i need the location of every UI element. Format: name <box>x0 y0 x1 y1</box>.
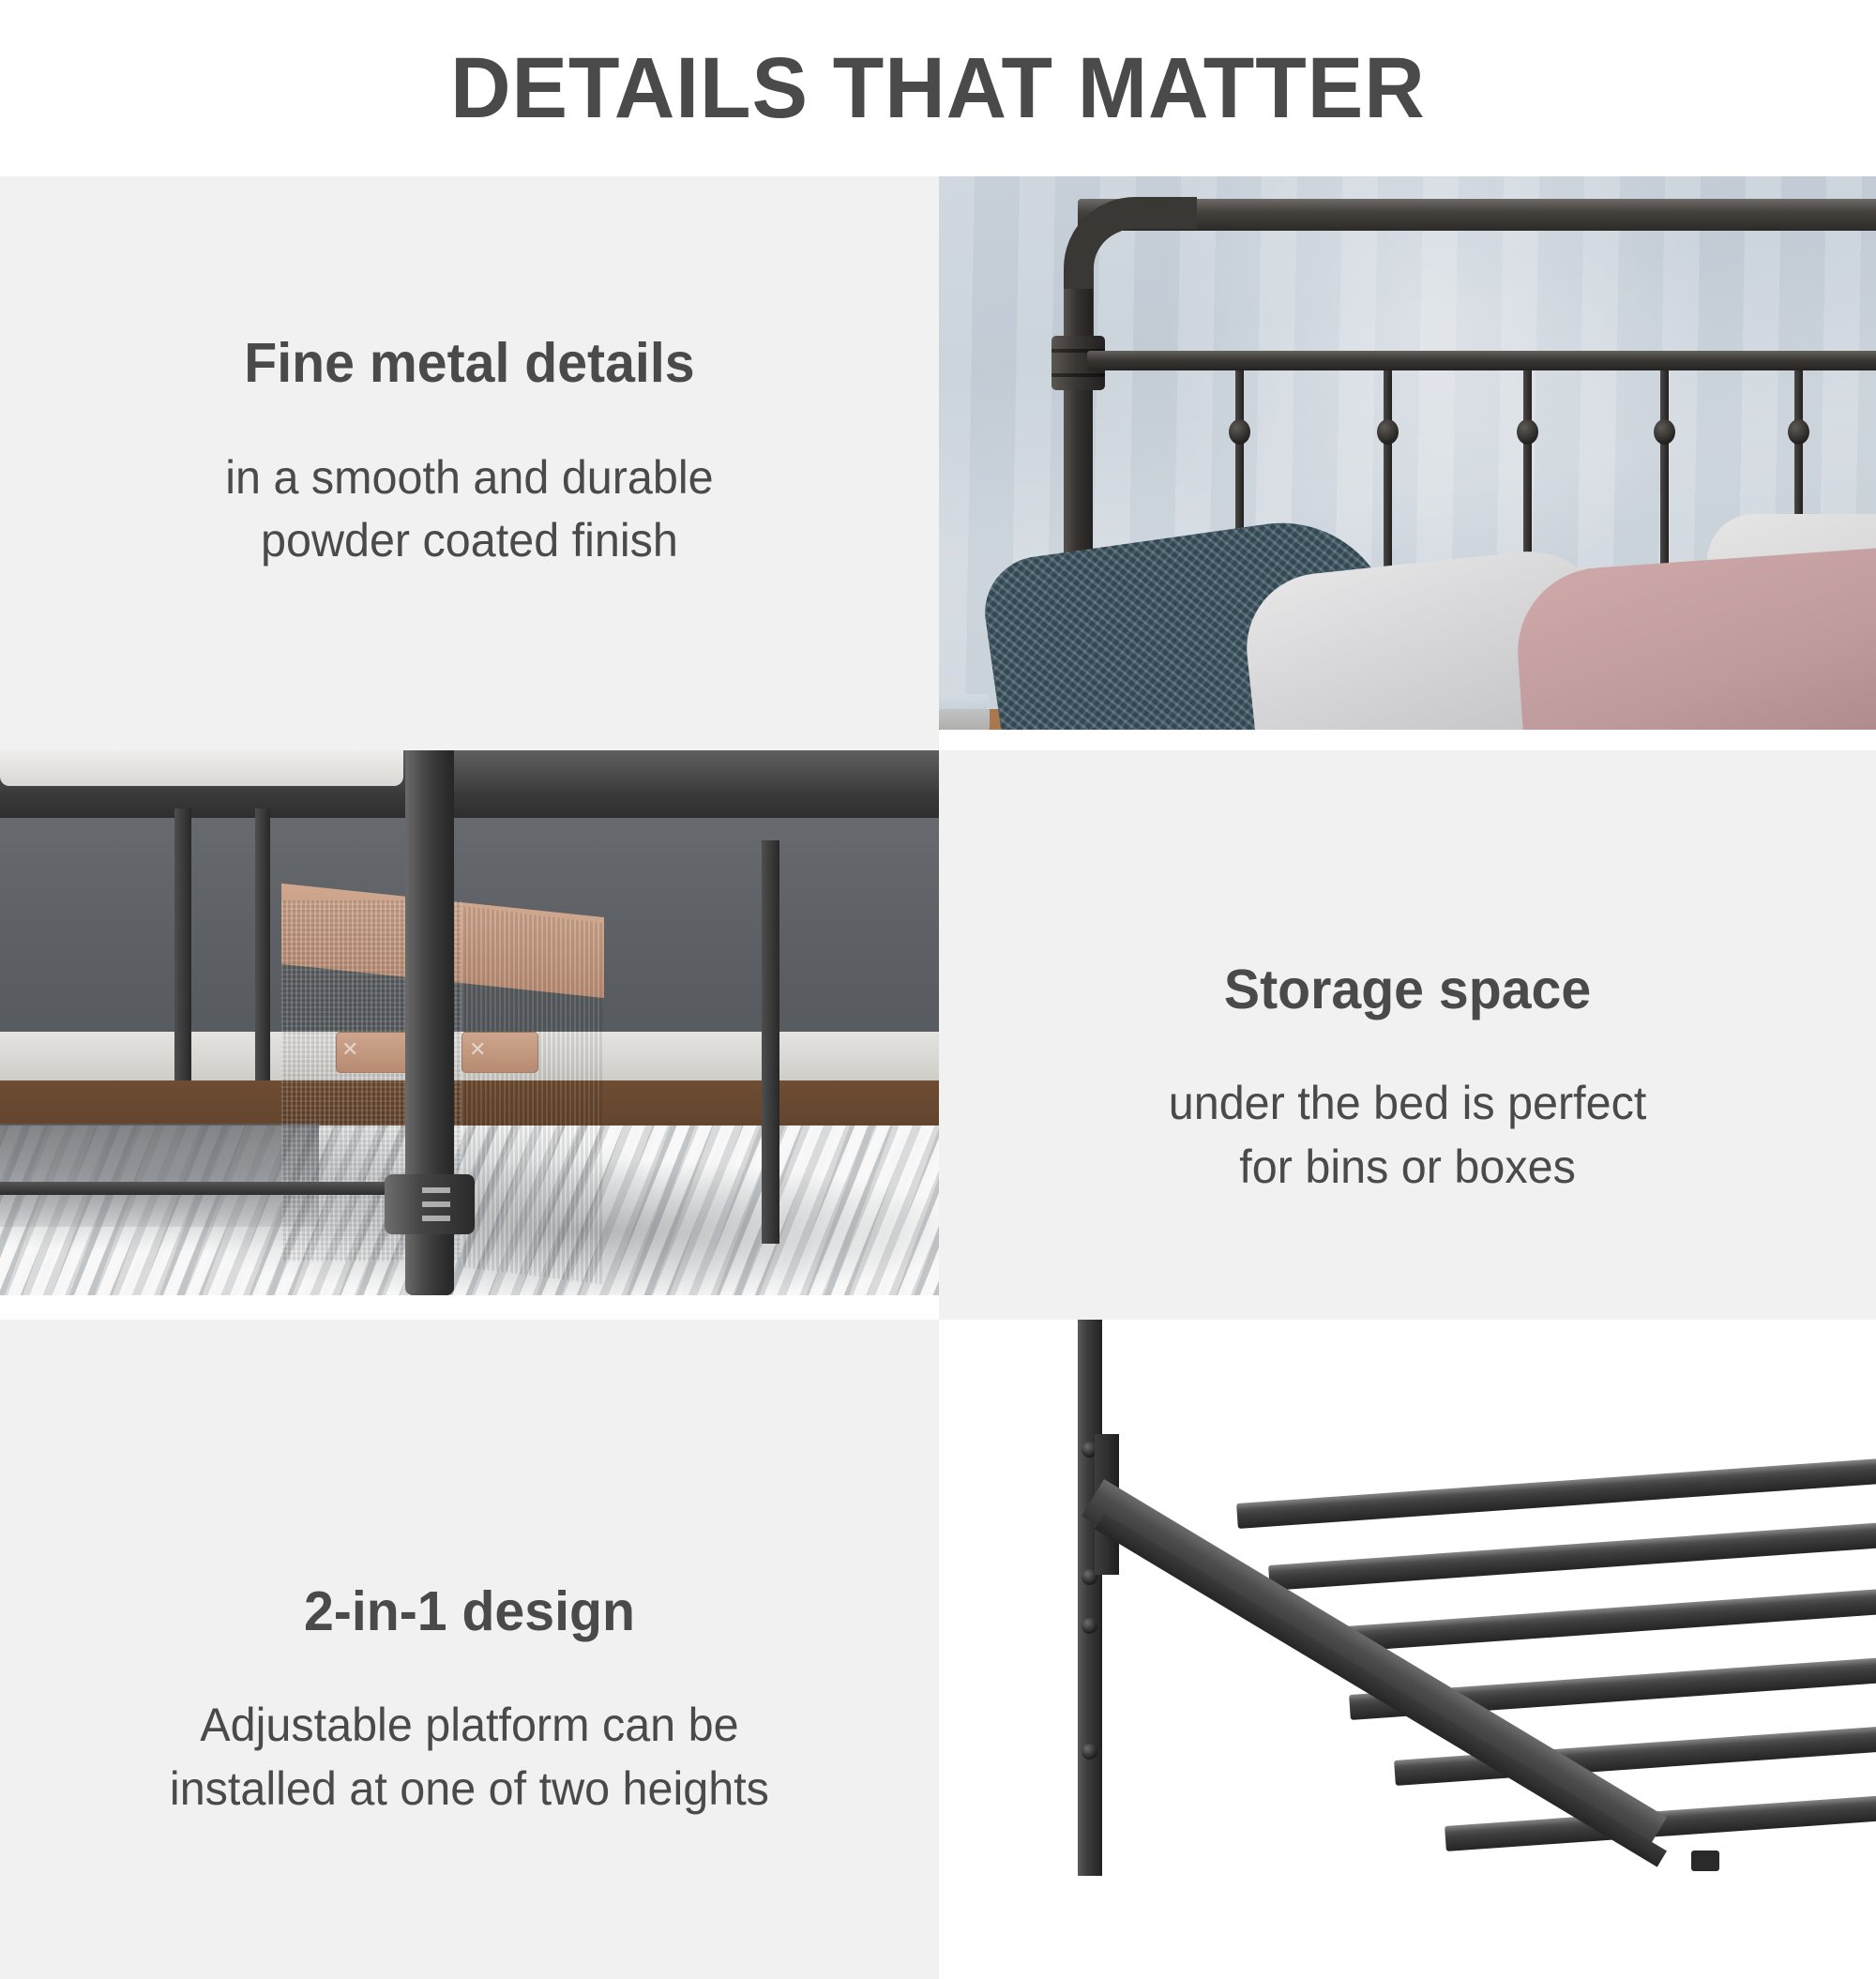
bed-leg <box>255 808 270 1080</box>
bed-side-rail <box>0 1182 441 1195</box>
feature-body-2-in-1-design: Adjustable platform can be installed at … <box>68 1694 870 1820</box>
feature-body-line-1: Adjustable platform can be <box>68 1694 870 1758</box>
frame-vertical-post <box>1078 1320 1102 1876</box>
frame-slat <box>1268 1521 1876 1591</box>
spindle-finial <box>1377 419 1399 445</box>
feature-body-fine-metal-details: in a smooth and durable powder coated fi… <box>68 446 870 573</box>
page-header: DETAILS THAT MATTER <box>0 0 1876 176</box>
feature-text-storage-space: Storage space under the bed is perfect f… <box>939 750 1876 1352</box>
feature-body-line-2: installed at one of two heights <box>68 1758 870 1821</box>
feature-body-line-1: under the bed is perfect <box>1007 1072 1808 1136</box>
feature-body-line-1: in a smooth and durable <box>68 446 870 510</box>
slat-end-cap <box>1691 1851 1719 1871</box>
feature-text-inner: 2-in-1 design Adjustable platform can be… <box>56 1581 883 1821</box>
bed-leg <box>762 840 779 1244</box>
spindle-finial <box>1654 419 1675 445</box>
feature-text-inner: Fine metal details in a smooth and durab… <box>56 333 883 573</box>
page-title: DETAILS THAT MATTER <box>450 45 1426 131</box>
feature-title-storage-space: Storage space <box>1007 959 1808 1020</box>
feature-text-2-in-1-design: 2-in-1 design Adjustable platform can be… <box>0 1320 939 1979</box>
storage-bin-side <box>461 906 602 1284</box>
headboard-spindle <box>1523 370 1532 582</box>
feature-photo-fine-metal-details <box>939 176 1876 730</box>
mattress-edge <box>0 750 403 786</box>
rug-shadow <box>0 1124 319 1227</box>
bed-leg <box>174 808 191 1080</box>
feature-photo-storage-space: ✕ ✕ <box>0 750 939 1295</box>
frame-slat <box>1236 1458 1876 1529</box>
headboard-photo <box>939 176 1876 730</box>
frame-slat <box>1306 1586 1876 1654</box>
infographic-page: DETAILS THAT MATTER Fine metal details i… <box>0 0 1876 1876</box>
feature-row-fine-metal-details: Fine metal details in a smooth and durab… <box>0 176 1876 730</box>
bin-handle-stitch-icon: ✕ <box>469 1039 486 1060</box>
feature-text-fine-metal-details: Fine metal details in a smooth and durab… <box>0 176 939 754</box>
post-rivet <box>1082 1618 1097 1634</box>
headboard-spindle <box>1660 370 1669 582</box>
water-glass <box>939 694 990 730</box>
feature-text-inner: Storage space under the bed is perfect f… <box>995 959 1820 1200</box>
headboard-top-rail <box>1078 199 1876 231</box>
feature-title-2-in-1-design: 2-in-1 design <box>68 1581 870 1642</box>
feature-body-line-2: powder coated finish <box>68 509 870 573</box>
feature-body-line-2: for bins or boxes <box>1007 1136 1808 1200</box>
feature-title-fine-metal-details: Fine metal details <box>68 333 870 394</box>
headboard-spindle <box>1384 370 1392 582</box>
under-bed-storage-photo: ✕ ✕ <box>0 750 939 1295</box>
feature-photo-2-in-1-design <box>939 1320 1876 1876</box>
bin-handle-stitch-icon: ✕ <box>341 1039 358 1060</box>
post-collar-detail <box>385 1174 475 1234</box>
spindle-finial <box>1229 419 1250 445</box>
spindle-finial <box>1788 419 1809 445</box>
feature-row-storage-space: ✕ ✕ Storage space under the bed is perfe… <box>0 750 1876 1295</box>
bed-frame-slats-photo <box>939 1320 1876 1876</box>
feature-body-storage-space: under the bed is perfect for bins or box… <box>1007 1072 1808 1199</box>
headboard-mid-rail <box>1087 351 1876 370</box>
feature-row-2-in-1-design: 2-in-1 design Adjustable platform can be… <box>0 1320 1876 1876</box>
post-rivet <box>1082 1744 1097 1760</box>
spindle-finial <box>1517 419 1538 445</box>
